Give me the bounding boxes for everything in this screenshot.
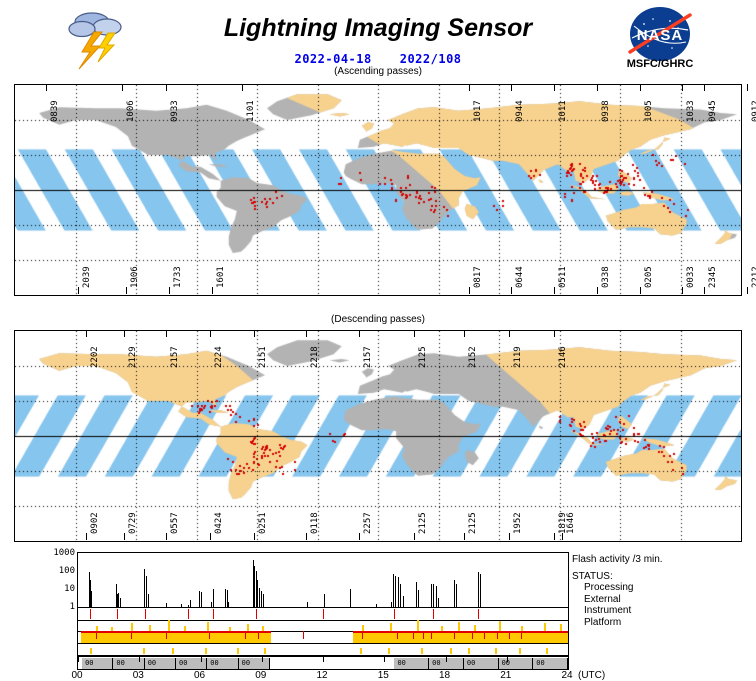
platform-block: 00 xyxy=(239,658,270,669)
activity-bar xyxy=(190,600,191,607)
orbit-time-label: 1005 xyxy=(644,100,654,122)
orbit-tick xyxy=(169,287,170,294)
activity-bar xyxy=(418,590,419,607)
orbit-time-label: 2125 xyxy=(418,512,428,534)
instrument-marker xyxy=(131,631,132,639)
orbit-time-label: 0511 xyxy=(558,266,568,288)
orbit-time-label: 0945 xyxy=(708,100,718,122)
x-axis-tick-label: 18 xyxy=(439,670,450,681)
time-axis: 0000000000000000000000 xyxy=(77,656,569,670)
orbit-tick xyxy=(704,287,705,294)
y-axis-tick-label: 100 xyxy=(59,566,75,576)
platform-block: 00 xyxy=(394,658,429,669)
activity-bar xyxy=(263,594,264,607)
processing-marker xyxy=(478,609,479,619)
activity-bar xyxy=(454,580,455,607)
orbit-tick xyxy=(212,287,213,294)
orbit-tick xyxy=(704,84,705,91)
instrument-marker xyxy=(484,631,485,639)
processing-marker xyxy=(323,609,324,619)
map-canvas xyxy=(15,85,741,295)
legend-platform: Platform xyxy=(572,617,756,629)
orbit-tick xyxy=(597,84,598,91)
x-axis-tick xyxy=(568,657,569,662)
orbit-tick xyxy=(640,84,641,91)
legend-flash-activity: Flash activity /3 min. xyxy=(572,554,756,566)
instrument-status-line xyxy=(81,631,271,633)
orbit-time-label: 1033 xyxy=(686,100,696,122)
orbit-tick xyxy=(464,533,465,540)
platform-spike xyxy=(90,648,92,654)
platform-spike xyxy=(421,648,423,654)
platform-spike xyxy=(495,648,497,654)
processing-marker xyxy=(213,609,214,619)
orbit-tick xyxy=(124,330,125,337)
processing-marker xyxy=(117,609,118,619)
orbit-tick xyxy=(210,330,211,337)
orbit-time-label: 1006 xyxy=(126,100,136,122)
orbit-time-label: 1011 xyxy=(558,100,568,122)
orbit-tick xyxy=(554,330,555,337)
orbit-time-label: 0033 xyxy=(686,266,696,288)
orbit-tick xyxy=(210,533,211,540)
activity-bar xyxy=(438,598,439,607)
descending-caption: (Descending passes) xyxy=(0,314,756,325)
orbit-tick xyxy=(554,287,555,294)
orbit-time-label: 2157 xyxy=(363,346,373,368)
activity-bar xyxy=(376,604,377,607)
orbit-tick xyxy=(166,330,167,337)
orbit-tick xyxy=(166,533,167,540)
activity-bar xyxy=(166,603,167,607)
orbit-time-label: 2119 xyxy=(513,346,523,368)
orbit-time-label: 2257 xyxy=(363,512,373,534)
orbit-tick xyxy=(78,287,79,294)
orbit-tick xyxy=(122,84,123,91)
orbit-time-label: 0118 xyxy=(310,512,320,534)
activity-bar xyxy=(148,594,149,607)
orbit-time-label: 2152 xyxy=(468,346,478,368)
chart-legend: Flash activity /3 min. STATUS: Processin… xyxy=(572,554,756,628)
platform-spike xyxy=(237,648,239,654)
platform-block: 00 xyxy=(82,658,113,669)
orbit-tick xyxy=(126,287,127,294)
x-axis-tick-label: 15 xyxy=(378,670,389,681)
x-axis-tick-label: 12 xyxy=(316,670,327,681)
x-axis-tick-label: 24 xyxy=(561,670,572,681)
platform-spike xyxy=(205,648,207,654)
activity-bar xyxy=(436,586,437,607)
orbit-time-label: 1017 xyxy=(473,100,483,122)
orbit-time-label: 1952 xyxy=(513,512,523,534)
orbit-tick xyxy=(554,84,555,91)
instrument-marker xyxy=(472,631,473,639)
activity-bar xyxy=(91,591,92,607)
instrument-marker xyxy=(497,631,498,639)
x-axis-tick xyxy=(201,657,202,662)
x-axis-tick-label: 06 xyxy=(194,670,205,681)
instrument-marker xyxy=(245,631,246,639)
platform-spike xyxy=(468,648,470,654)
platform-block: 00 xyxy=(533,658,568,669)
x-axis-tick xyxy=(139,657,140,662)
processing-marker xyxy=(256,609,257,619)
orbit-time-label: 0933 xyxy=(170,100,180,122)
platform-block: 00 xyxy=(176,658,207,669)
y-axis-tick-label: 10 xyxy=(64,584,75,594)
orbit-time-label: 1646 xyxy=(566,512,576,534)
utc-label: (UTC) xyxy=(578,670,605,681)
instrument-marker xyxy=(258,631,259,639)
orbit-time-label: 0205 xyxy=(644,266,654,288)
y-axis-tick-label: 1000 xyxy=(53,548,75,558)
legend-processing: Processing xyxy=(572,582,756,594)
ascending-passes-map: 0839100609331101101709441011093810051033… xyxy=(14,84,742,296)
activity-bar xyxy=(350,589,351,607)
x-axis-tick-label: 00 xyxy=(71,670,82,681)
orbit-time-label: 2157 xyxy=(170,346,180,368)
orbit-time-label: 0944 xyxy=(515,100,525,122)
x-axis-tick xyxy=(78,657,79,662)
platform-block: 00 xyxy=(145,658,176,669)
platform-block: 00 xyxy=(429,658,464,669)
orbit-time-label: 0644 xyxy=(515,266,525,288)
orbit-tick xyxy=(86,533,87,540)
instrument-marker xyxy=(509,631,510,639)
processing-marker xyxy=(433,609,434,619)
observation-date: 2022-04-18 xyxy=(294,52,371,66)
orbit-time-label: 0729 xyxy=(128,512,138,534)
status-separator xyxy=(78,620,568,621)
orbit-tick xyxy=(640,287,641,294)
orbit-time-label: 2345 xyxy=(708,266,718,288)
orbit-time-label: 1601 xyxy=(216,266,226,288)
activity-bar xyxy=(261,591,262,607)
orbit-time-label: 0424 xyxy=(214,512,224,534)
orbit-time-label: 0938 xyxy=(601,100,611,122)
orbit-tick xyxy=(166,84,167,91)
instrument-marker xyxy=(362,631,363,639)
instrument-marker xyxy=(303,631,304,639)
activity-bar xyxy=(416,582,417,607)
platform-spike xyxy=(450,648,452,654)
orbit-tick xyxy=(254,330,255,337)
instrument-marker xyxy=(431,631,432,639)
activity-bar xyxy=(398,577,399,607)
map-canvas xyxy=(15,331,741,541)
activity-bar xyxy=(431,584,432,607)
x-axis-tick xyxy=(384,657,385,662)
orbit-tick xyxy=(86,330,87,337)
x-axis-tick xyxy=(323,657,324,662)
instrument-status-line xyxy=(353,631,568,633)
instrument-marker xyxy=(209,631,210,639)
instrument-marker xyxy=(413,631,414,639)
orbit-time-label: 2125 xyxy=(418,346,428,368)
orbit-time-label: 0839 xyxy=(50,100,60,122)
x-axis-tick xyxy=(446,657,447,662)
activity-bar xyxy=(120,598,121,607)
processing-marker xyxy=(188,609,189,619)
orbit-tick xyxy=(414,533,415,540)
orbit-time-label: 2039 xyxy=(82,266,92,288)
processing-marker xyxy=(394,609,395,619)
activity-bar xyxy=(211,602,212,607)
activity-bar xyxy=(478,572,479,607)
orbit-time-label: 0902 xyxy=(90,512,100,534)
orbit-tick xyxy=(597,287,598,294)
platform-block: 00 xyxy=(499,658,534,669)
activity-bar xyxy=(324,594,325,607)
orbit-tick xyxy=(306,330,307,337)
x-axis-tick-label: 09 xyxy=(255,670,266,681)
orbit-time-label: 2202 xyxy=(90,346,100,368)
platform-spike xyxy=(519,648,521,654)
platform-block: 00 xyxy=(207,658,238,669)
activity-bar xyxy=(391,602,392,607)
activity-bar xyxy=(228,602,229,607)
activity-bar xyxy=(456,584,457,607)
orbit-tick xyxy=(747,287,748,294)
orbit-tick xyxy=(242,84,243,91)
svg-text:NASA: NASA xyxy=(637,27,684,44)
processing-marker xyxy=(145,609,146,619)
orbit-time-label: 0912 xyxy=(751,100,756,122)
orbit-tick xyxy=(747,84,748,91)
orbit-tick xyxy=(511,84,512,91)
status-separator xyxy=(78,643,568,644)
orbit-tick xyxy=(306,533,307,540)
orbit-tick xyxy=(469,287,470,294)
orbit-tick xyxy=(682,84,683,91)
x-axis-tick xyxy=(262,657,263,662)
activity-bar xyxy=(393,574,394,607)
activity-bar xyxy=(395,576,396,607)
orbit-time-label: 2125 xyxy=(468,512,478,534)
descending-passes-map: 2202212921572224215122182157212521522119… xyxy=(14,330,742,542)
orbit-time-label: 2146 xyxy=(558,346,568,368)
orbit-tick xyxy=(554,533,555,540)
platform-spike xyxy=(546,648,548,654)
x-axis-tick xyxy=(507,657,508,662)
activity-bar xyxy=(181,604,182,607)
orbit-time-label: 2218 xyxy=(310,346,320,368)
platform-spike xyxy=(172,648,174,654)
day-of-year: 2022/108 xyxy=(400,52,462,66)
instrument-marker xyxy=(96,631,97,639)
activity-bar xyxy=(146,576,147,607)
orbit-tick xyxy=(359,330,360,337)
legend-status-heading: STATUS: xyxy=(572,571,756,583)
activity-bar xyxy=(201,592,202,607)
legend-instrument: Instrument xyxy=(572,605,756,617)
orbit-time-label: 2212 xyxy=(751,266,756,288)
y-axis-tick-label: 1 xyxy=(70,602,75,612)
orbit-tick xyxy=(509,533,510,540)
orbit-tick xyxy=(464,330,465,337)
orbit-time-label: 0557 xyxy=(170,512,180,534)
orbit-time-label: 1101 xyxy=(246,100,256,122)
page-header: Lightning Imaging Sensor 2022-04-182022/… xyxy=(0,0,756,78)
orbit-tick xyxy=(509,330,510,337)
orbit-tick xyxy=(511,287,512,294)
activity-bar xyxy=(433,584,434,607)
x-axis-tick-label: 21 xyxy=(500,670,511,681)
x-axis-tick-label: 03 xyxy=(133,670,144,681)
activity-bar xyxy=(213,589,214,607)
platform-spike xyxy=(143,648,145,654)
orbit-tick xyxy=(682,287,683,294)
activity-bar xyxy=(480,574,481,607)
legend-external: External xyxy=(572,594,756,606)
orbit-tick xyxy=(469,84,470,91)
orbit-time-label: 1733 xyxy=(173,266,183,288)
instrument-marker xyxy=(454,631,455,639)
orbit-time-label: 0817 xyxy=(473,266,483,288)
orbit-time-label: 0251 xyxy=(258,512,268,534)
flash-activity-chart: 1101001000 xyxy=(77,552,569,608)
orbit-time-label: 1906 xyxy=(130,266,140,288)
orbit-time-label: 2151 xyxy=(258,346,268,368)
instrument-marker xyxy=(521,631,522,639)
orbit-tick xyxy=(254,533,255,540)
activity-bar xyxy=(307,602,308,607)
orbit-tick xyxy=(124,533,125,540)
orbit-time-label: 0338 xyxy=(601,266,611,288)
agency-caption: MSFC/GHRC xyxy=(600,58,720,70)
status-bars xyxy=(77,608,569,656)
orbit-tick xyxy=(562,533,563,540)
instrument-marker xyxy=(423,631,424,639)
instrument-marker xyxy=(397,631,398,639)
orbit-tick xyxy=(414,330,415,337)
orbit-tick xyxy=(359,533,360,540)
platform-block: 00 xyxy=(464,658,499,669)
instrument-marker xyxy=(166,631,167,639)
activity-bar xyxy=(400,584,401,607)
activity-bar xyxy=(403,596,404,607)
platform-spike xyxy=(388,648,390,654)
processing-marker xyxy=(90,609,91,619)
orbit-tick xyxy=(46,84,47,91)
orbit-time-label: 2224 xyxy=(214,346,224,368)
platform-spike xyxy=(360,648,362,654)
orbit-time-label: 2129 xyxy=(128,346,138,368)
platform-spike xyxy=(264,648,266,654)
activity-panel: 1101001000 0000000000000000000000 Flash … xyxy=(0,548,756,680)
